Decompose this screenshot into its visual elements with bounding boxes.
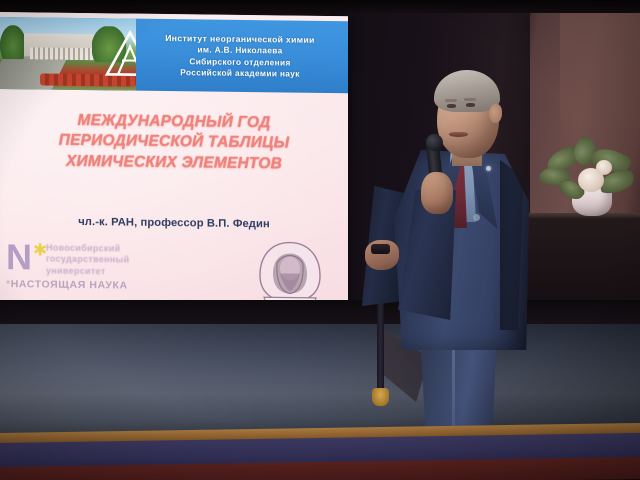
photo-scene: Институт неорганической химии им. А.В. Н… (0, 0, 640, 480)
shoulder-shadow (500, 160, 534, 330)
presenter-ear (489, 104, 502, 123)
presenter-eye-right (466, 103, 475, 107)
microphone-head-icon (425, 133, 444, 152)
presenter-eyebrow-right (464, 98, 476, 101)
presenter-eyebrow-left (445, 99, 457, 102)
presenter-figure (0, 0, 640, 480)
presentation-clicker-icon (371, 244, 390, 254)
presenter-eye-left (447, 104, 456, 108)
presenter-mouth (449, 132, 468, 137)
jacket-button-icon (473, 214, 480, 221)
presenter-right-hand (421, 172, 453, 214)
lapel-pin-icon (486, 166, 491, 171)
